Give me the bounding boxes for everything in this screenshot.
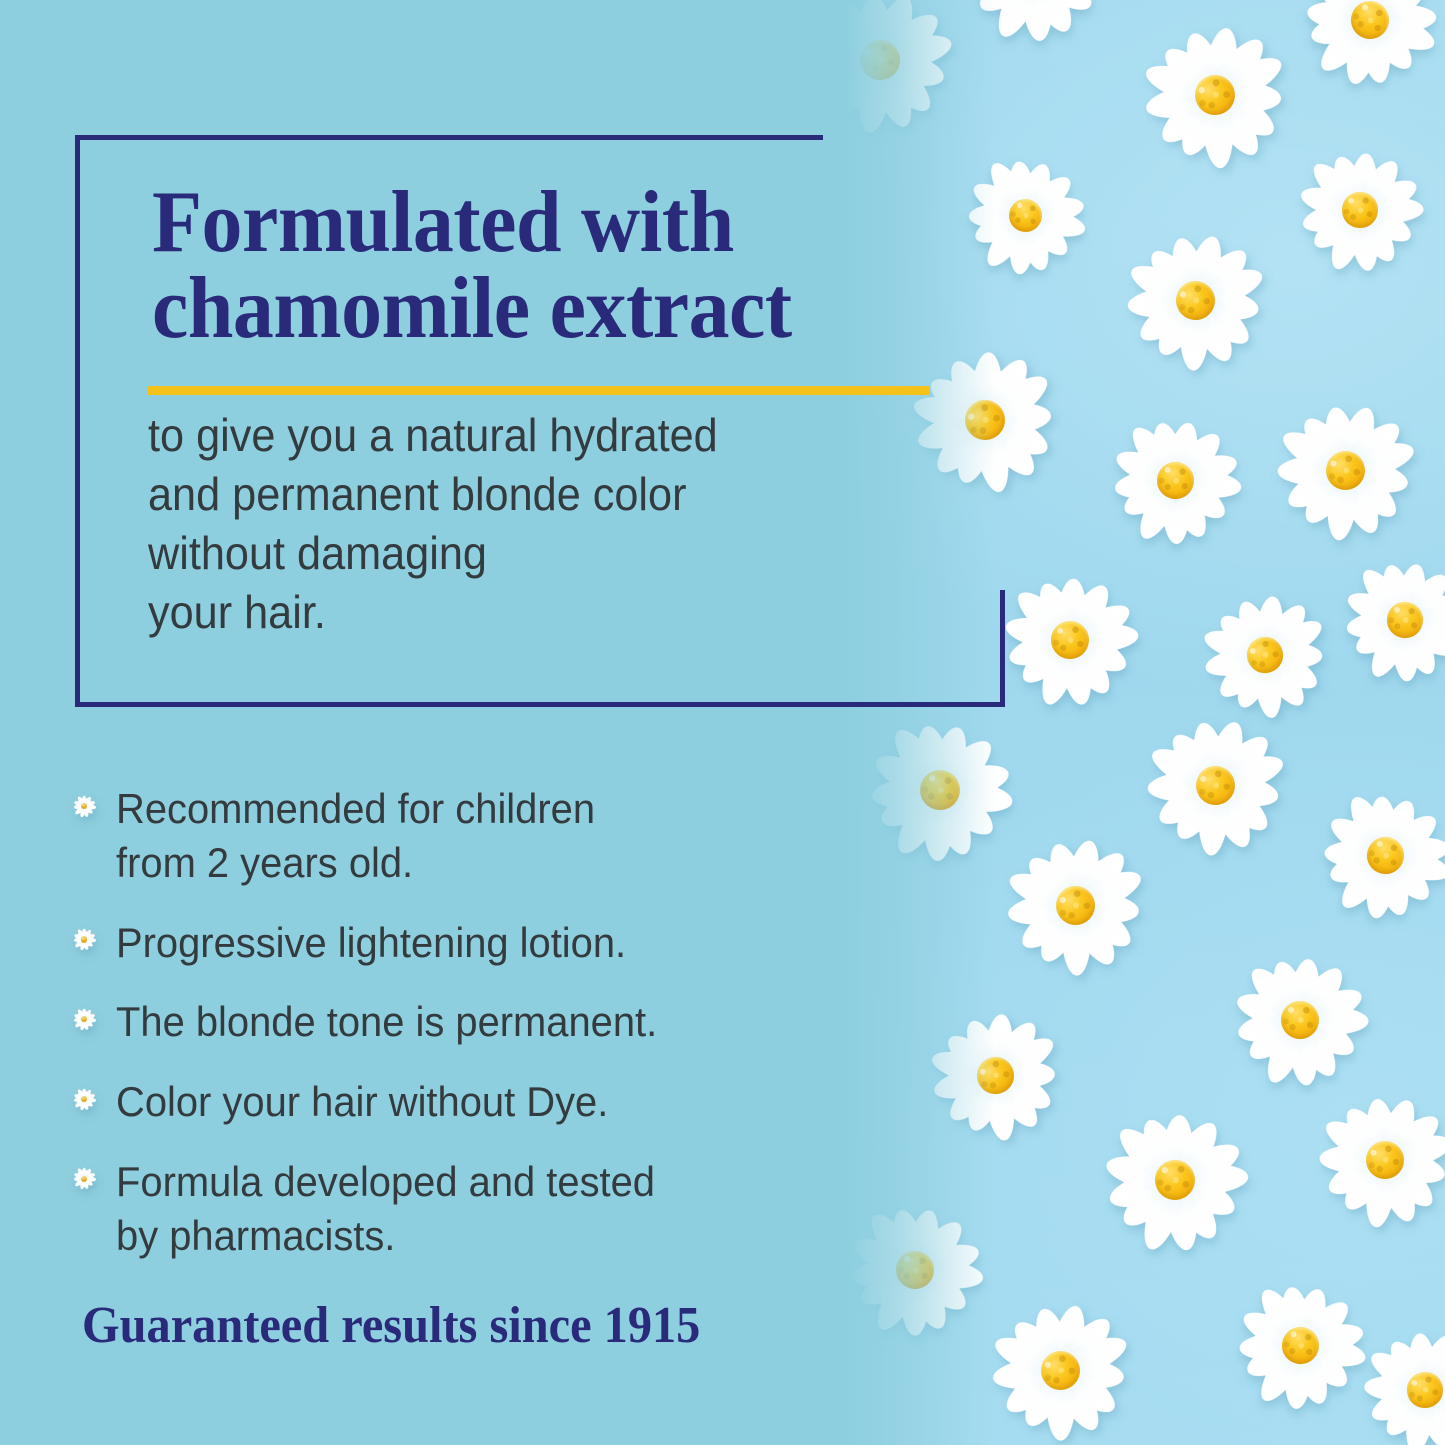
daisy-petal: [855, 1258, 922, 1314]
frame-right-edge: [1000, 590, 1005, 707]
daisy-petal: [845, 50, 892, 120]
daisy-petal: [845, 0, 893, 69]
list-item: Color your hair without Dye.: [72, 1075, 902, 1129]
guarantee-tagline: Guaranteed results since 1915: [82, 1300, 700, 1352]
daisy-bullet-icon: [72, 1007, 96, 1031]
daisy-petal: [929, 731, 999, 801]
daisy-flower-icon: [1131, 701, 1299, 869]
daisy-flower-icon: [1219, 939, 1381, 1101]
daisy-petal: [928, 1045, 999, 1088]
frame-top-edge: [75, 135, 823, 140]
daisy-center: [858, 38, 902, 82]
daisy-flower-icon: [1274, 0, 1445, 116]
page-title: Formulated with chamomile extract: [152, 180, 896, 352]
daisy-flower-icon: [1356, 1321, 1445, 1445]
list-item-label: Recommended for children from 2 years ol…: [116, 782, 595, 890]
daisy-bullet-icon: [72, 794, 96, 818]
daisy-petal: [940, 1028, 1003, 1086]
daisy-flower-icon: [1287, 137, 1434, 284]
daisy-flower-icon: [72, 794, 96, 818]
list-item: Progressive lightening lotion.: [72, 916, 902, 970]
daisy-petal: [845, 46, 887, 105]
daisy-bullet-icon: [72, 1167, 96, 1191]
daisy-petal: [857, 0, 896, 62]
daisy-flower-icon: [72, 1167, 96, 1191]
daisy-flower-icon: [72, 1087, 96, 1111]
daisy-flower-icon: [1120, 0, 1309, 189]
daisy-petals: [845, 0, 961, 141]
daisy-petals: [1326, 541, 1445, 699]
daisy-flower-icon: [986, 816, 1164, 994]
frame-bottom-edge: [75, 702, 1005, 707]
list-item: Recommended for children from 2 years ol…: [72, 782, 902, 890]
daisy-petal: [900, 1270, 929, 1336]
list-item: Formula developed and tested by pharmaci…: [72, 1155, 902, 1263]
daisy-bullet-icon: [72, 928, 96, 952]
daisy-flower-icon: [1093, 1098, 1258, 1263]
headline-line-1: Formulated with: [152, 180, 896, 266]
daisy-petal: [925, 723, 973, 795]
daisy-petals: [946, 0, 1124, 59]
headline-line-2: chamomile extract: [152, 266, 896, 352]
daisy-petal: [901, 1207, 944, 1273]
feature-list: Recommended for children from 2 years ol…: [72, 782, 902, 1262]
promo-poster: Formulated with chamomile extract to giv…: [0, 0, 1445, 1445]
daisy-flower-icon: [1308, 1083, 1445, 1237]
frame-left-edge: [75, 135, 80, 707]
daisy-petal: [876, 45, 947, 92]
subheading: to give you a natural hydrated and perma…: [148, 406, 909, 642]
daisy-flower-icon: [994, 564, 1146, 716]
daisy-flower-icon: [845, 0, 961, 141]
daisy-petal: [854, 58, 896, 135]
daisy-petal: [866, 55, 920, 132]
daisy-flower-icon: [907, 987, 1083, 1163]
daisy-petal: [913, 1256, 984, 1293]
list-item-label: Progressive lightening lotion.: [116, 916, 626, 970]
daisy-petal: [912, 723, 955, 793]
daisy-flower-icon: [972, 1282, 1148, 1445]
list-item: The blonde tone is permanent.: [72, 995, 902, 1049]
daisy-petal: [845, 9, 888, 73]
daisy-petal: [871, 5, 946, 72]
daisy-petal: [906, 1259, 972, 1319]
daisy-flower-icon: [1109, 214, 1281, 386]
daisy-flower-icon: [72, 1007, 96, 1031]
daisy-flower-icon: [72, 928, 96, 952]
daisy-petal: [902, 1264, 954, 1334]
daisy-petal: [911, 1237, 982, 1283]
subheading-line-3: without damaging: [148, 524, 909, 583]
daisy-petal: [930, 1062, 998, 1105]
daisy-petal: [930, 778, 1000, 843]
daisy-petal: [922, 789, 955, 861]
daisy-flower-icon: [1263, 388, 1427, 552]
subheading-line-4: your hair.: [148, 583, 909, 642]
daisy-petal: [869, 1263, 928, 1336]
daisy-petal: [869, 49, 939, 119]
yellow-divider-rule: [148, 386, 930, 395]
daisy-flower-icon: [1092, 397, 1257, 562]
daisy-flower-icon: [946, 0, 1124, 59]
daisy-petal: [876, 28, 954, 75]
daisy-flower-icon: [1326, 541, 1445, 699]
list-item-label: Color your hair without Dye.: [116, 1075, 608, 1129]
list-item-label: The blonde tone is permanent.: [116, 995, 657, 1049]
subheading-line-1: to give you a natural hydrated: [148, 406, 909, 465]
list-item-label: Formula developed and tested by pharmaci…: [116, 1155, 655, 1263]
daisy-bullet-icon: [72, 1087, 96, 1111]
daisy-petal: [926, 784, 980, 859]
daisy-petal: [866, 0, 921, 66]
daisy-center: [914, 764, 965, 815]
daisy-petal: [845, 42, 881, 75]
subheading-line-2: and permanent blonde color: [148, 465, 909, 524]
daisy-flower-icon: [1295, 765, 1445, 944]
daisy-petal: [905, 1214, 970, 1280]
